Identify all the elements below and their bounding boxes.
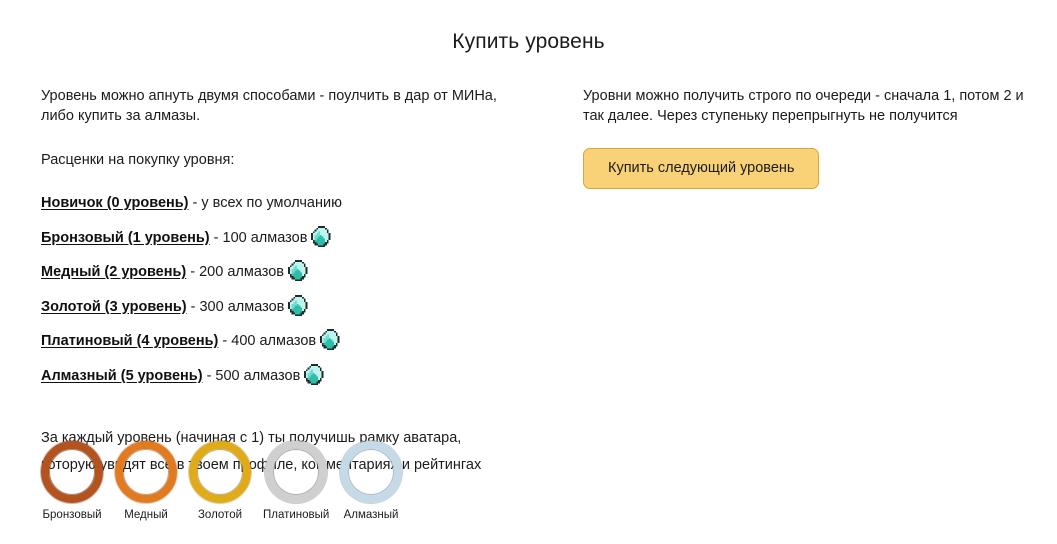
tier-name: Новичок (0 уровень): [41, 195, 189, 211]
diamond-icon: [320, 329, 341, 350]
avatar-frame-ring: [265, 441, 327, 503]
avatar-frame-label: Медный: [115, 509, 177, 522]
price-list: Новичок (0 уровень) - у всех по умолчани…: [41, 186, 541, 393]
tier-price-text: - 200 алмазов: [186, 264, 284, 280]
avatar-frame-ring: [189, 441, 251, 503]
diamond-icon: [304, 364, 325, 385]
diamond-icon: [311, 226, 332, 247]
tier-price-text: - 300 алмазов: [187, 299, 285, 315]
avatar-frame-row: БронзовыйМедныйЗолотойПлатиновыйАлмазный: [41, 441, 461, 541]
price-list-item: Платиновый (4 уровень) - 400 алмазов: [41, 324, 541, 359]
avatar-frame-item: Медный: [115, 441, 177, 522]
avatar-frame-label: Алмазный: [340, 509, 402, 522]
tier-name: Медный (2 уровень): [41, 264, 186, 280]
avatar-frame-ring: [41, 441, 103, 503]
avatar-frame-item: Золотой: [189, 441, 251, 522]
diamond-icon: [288, 260, 309, 281]
tier-name: Алмазный (5 уровень): [41, 368, 203, 384]
page-title: Купить уровень: [0, 30, 1057, 54]
level-order-note: Уровни можно получить строго по очереди …: [583, 86, 1028, 126]
avatar-frame-item: Бронзовый: [41, 441, 103, 522]
price-list-item: Новичок (0 уровень) - у всех по умолчани…: [41, 186, 541, 221]
avatar-frame-item: Платиновый: [263, 441, 329, 522]
buy-next-level-button[interactable]: Купить следующий уровень: [583, 148, 819, 189]
avatar-frame-item: Алмазный: [340, 441, 402, 522]
price-list-item: Золотой (3 уровень) - 300 алмазов: [41, 290, 541, 325]
diamond-icon: [288, 295, 309, 316]
avatar-frame-label: Золотой: [189, 509, 251, 522]
right-column: Уровни можно получить строго по очереди …: [583, 86, 1033, 189]
tier-price-text: - 400 алмазов: [218, 333, 316, 349]
tier-name: Бронзовый (1 уровень): [41, 230, 210, 246]
avatar-frame-label: Бронзовый: [41, 509, 103, 522]
intro-paragraph: Уровень можно апнуть двумя способами - п…: [41, 86, 511, 126]
left-column: Уровень можно апнуть двумя способами - п…: [41, 86, 541, 479]
avatar-frame-ring: [115, 441, 177, 503]
price-list-item: Бронзовый (1 уровень) - 100 алмазов: [41, 221, 541, 256]
tier-price-text: - 500 алмазов: [203, 368, 301, 384]
tier-price-text: - у всех по умолчанию: [189, 195, 342, 211]
tier-name: Платиновый (4 уровень): [41, 333, 218, 349]
avatar-frame-label: Платиновый: [263, 509, 329, 522]
price-list-item: Алмазный (5 уровень) - 500 алмазов: [41, 359, 541, 394]
price-list-item: Медный (2 уровень) - 200 алмазов: [41, 255, 541, 290]
pricing-subheading: Расценки на покупку уровня:: [41, 150, 541, 170]
tier-name: Золотой (3 уровень): [41, 299, 187, 315]
avatar-frame-ring: [340, 441, 402, 503]
tier-price-text: - 100 алмазов: [210, 230, 308, 246]
